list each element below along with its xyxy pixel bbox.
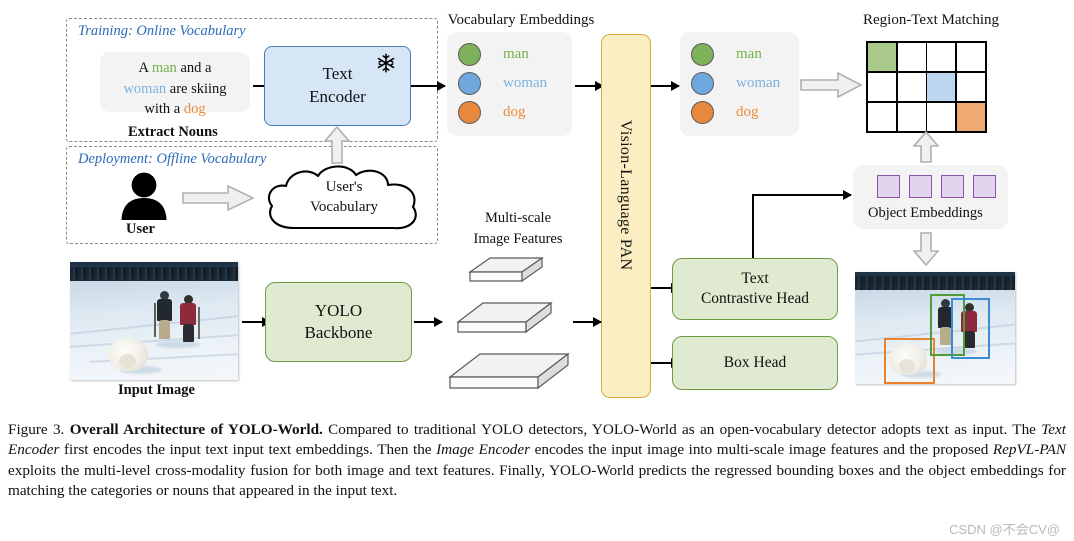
backbone-line1: YOLO [305,300,373,322]
object-embedding-square [973,175,996,198]
feature-map-level-3 [450,354,568,388]
grid-cell [868,103,896,131]
caption-prefix: Figure 3. [8,421,64,438]
arrow-head-to-objectemb-horizontal [752,194,851,196]
grid-cell [868,43,896,71]
vocab-label: woman [736,75,780,92]
object-embedding-square [909,175,932,198]
photo-pole [154,303,156,337]
text-contrastive-head-line1: Text [701,269,809,289]
vocab-color-dot [458,72,481,95]
arrow-pan-to-vocab-right [651,85,679,87]
figure-canvas: Training: Online Vocabulary A man and a … [0,0,1074,541]
yolo-backbone-box: YOLO Backbone [265,282,412,362]
extract-nouns-label: Extract Nouns [128,124,218,141]
output-image [855,272,1015,384]
text-encoder-line1: Text [309,63,366,86]
vocabulary-item: man [691,40,799,69]
detection-box-woman [951,298,990,359]
object-embeddings-label: Object Embeddings [868,205,983,222]
arrow-vocab-to-grid [800,72,862,98]
line-head-to-objectemb-vertical [752,195,754,265]
caption-italic-3: RepVL-PAN [993,441,1066,458]
text-contrastive-head-line2: Contrastive Head [701,289,809,309]
vocab-color-dot [458,43,481,66]
photo-pants [183,324,194,342]
vocab-label: woman [503,75,547,92]
text-contrastive-head-box: Text Contrastive Head [672,258,838,320]
vocabulary-item: woman [691,69,799,98]
backbone-line2: Backbone [305,322,373,344]
photo-body [180,303,196,325]
text-encoder-line2: Encoder [309,86,366,109]
vocabulary-embeddings-right-list: man woman dog [691,40,799,127]
arrow-cloud-to-encoder [324,126,350,164]
region-text-matching-grid [866,41,987,133]
grid-cell [927,43,955,71]
box-head-label: Box Head [724,353,786,373]
figure-caption: Figure 3. Overall Architecture of YOLO-W… [8,420,1066,501]
grid-cell [957,73,985,101]
box-head-box: Box Head [672,336,838,390]
caption-body-3: encodes the input image into multi-scale… [530,441,993,458]
photo-skier-woman [178,295,200,345]
vocab-color-dot [458,101,481,124]
snowflake-icon [375,52,397,74]
grid-cell [957,43,985,71]
vocabulary-embeddings-list: man woman dog [458,40,568,127]
deployment-section-label: Deployment: Offline Vocabulary [78,151,266,168]
cloud-line2: Vocabulary [290,197,398,217]
cloud-line1: User's [290,177,398,197]
feature-map-level-1 [470,258,542,281]
vocab-label: dog [503,104,526,121]
input-image-label: Input Image [118,382,195,399]
photo-pants [159,320,170,339]
vocab-label: man [503,46,529,63]
cloud-label: User's Vocabulary [290,177,398,218]
arrow-encoder-to-vocab [411,85,445,87]
vocab-color-dot [691,72,714,95]
vocab-color-dot [691,101,714,124]
detection-box-dog [884,338,935,384]
multiscale-title: Multi-scale Image Features [452,208,584,250]
vocabulary-item: dog [691,98,799,127]
grid-cell [927,103,955,131]
photo-treeline [855,276,1015,291]
photo-body [157,299,172,321]
user-icon [119,172,169,220]
vocabulary-item: woman [458,69,568,98]
object-embeddings-squares [877,175,996,198]
caption-body-2: first encodes the input text input text … [59,441,436,458]
training-section-label: Training: Online Vocabulary [78,23,246,40]
watermark: CSDN @不会CV@ [949,519,1060,538]
caption-italic-2: Image Encoder [436,441,530,458]
vocabulary-item: dog [458,98,568,127]
grid-cell [898,73,926,101]
photo-pole [198,307,200,339]
input-text: A man and a woman are skiing with a dog [100,58,250,120]
vocab-label: man [736,46,762,63]
feature-map-level-2 [458,303,551,332]
multiscale-line2: Image Features [452,229,584,250]
grid-cell [957,103,985,131]
caption-bold-title: Overall Architecture of YOLO-World. [70,421,323,438]
caption-body-1: Compared to traditional YOLO detectors, … [323,421,1041,438]
arrow-user-to-cloud [182,185,254,211]
vocabulary-item: man [458,40,568,69]
arrow-features-to-pan [573,321,601,323]
region-text-matching-title: Region-Text Matching [851,12,1011,29]
multiscale-line1: Multi-scale [452,208,584,229]
vocabulary-embeddings-title: Vocabulary Embeddings [441,12,601,29]
grid-cell [927,73,955,101]
vocab-color-dot [691,43,714,66]
photo-treeline [70,267,238,282]
multiscale-feature-stack [446,250,594,392]
photo-dog-face [119,354,136,369]
grid-cell [868,73,896,101]
grid-cell [898,103,926,131]
grid-cell [898,43,926,71]
user-label: User [126,221,155,238]
arrow-backbone-to-features [414,321,442,323]
input-image [70,262,238,380]
object-embedding-square [877,175,900,198]
vision-language-pan-label: Vision-Language PAN [616,120,634,270]
arrow-vocab-to-pan [575,85,603,87]
arrow-objectemb-to-output [913,232,939,266]
object-embedding-square [941,175,964,198]
arrow-objectemb-to-grid [913,131,939,163]
vocab-label: dog [736,104,759,121]
photo-skier-man [154,291,176,343]
caption-body-4: exploits the multi-level cross-modality … [8,462,1066,499]
